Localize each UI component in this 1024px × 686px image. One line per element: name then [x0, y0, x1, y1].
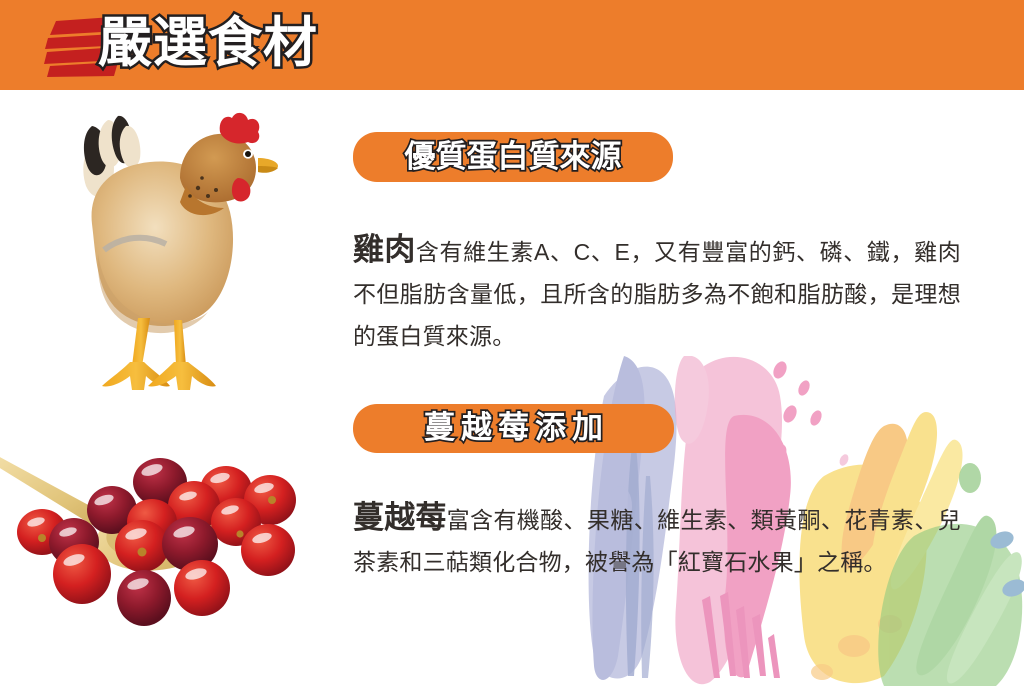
section-heading-label: 蔓越莓添加 — [418, 412, 609, 443]
content-column: 優質蛋白質來源 雞肉含有維生素A、C、E，又有豐富的鈣、磷、鐵，雞肉不但脂肪含量… — [353, 0, 973, 686]
section-heading-label: 優質蛋白質來源 — [405, 141, 622, 172]
section-lead-cranberry: 蔓越莓 — [353, 500, 447, 535]
poster-root: 嚴選食材 — [0, 0, 1024, 686]
section-heading-protein: 優質蛋白質來源 — [353, 132, 673, 182]
section-body-text-protein: 含有維生素A、C、E，又有豐富的鈣、磷、鐵，雞肉不但脂肪含量低，且所含的脂肪多為… — [353, 239, 961, 349]
section-body-cranberry: 蔓越莓富含有機酸、果糖、維生素、類黃酮、花青素、兒茶素和三萜類化合物，被譽為「紅… — [353, 497, 961, 583]
cranberry-photo — [0, 438, 320, 638]
page-title: 嚴選食材 — [98, 11, 318, 75]
chicken-photo — [62, 104, 302, 404]
section-body-protein: 雞肉含有維生素A、C、E，又有豐富的鈣、磷、鐵，雞肉不但脂肪含量低，且所含的脂肪… — [353, 229, 961, 357]
section-heading-cranberry: 蔓越莓添加 — [353, 404, 674, 453]
section-lead-protein: 雞肉 — [353, 232, 416, 267]
